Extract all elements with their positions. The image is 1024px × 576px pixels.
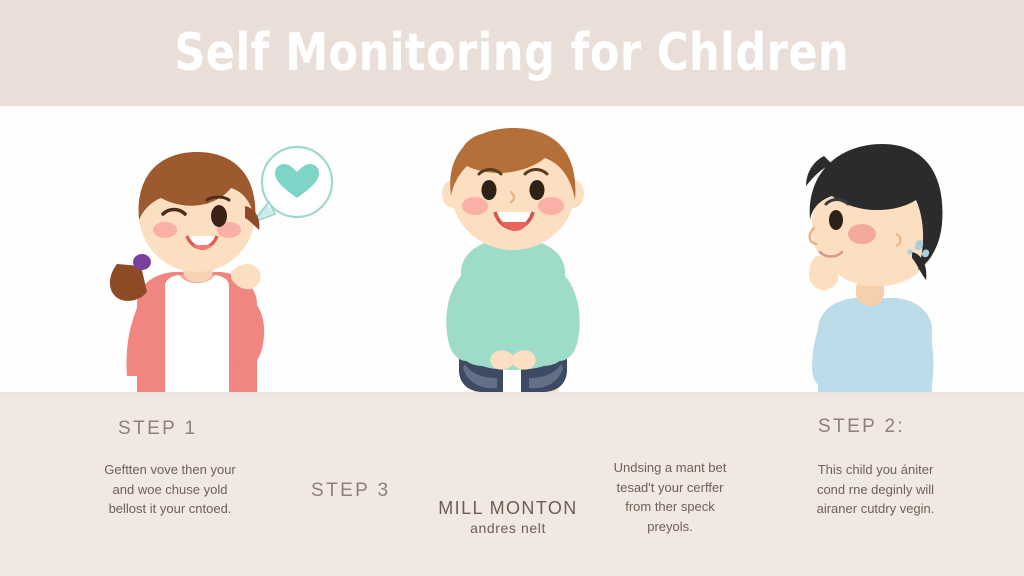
middle-body: Undsing a mant bet tesad't your cerffer … (570, 458, 770, 536)
figure-boy-listening (770, 134, 970, 392)
step-1-label: STEP 1 (118, 418, 198, 440)
figure-girl-thinking (95, 136, 365, 392)
header-band: Self Monitoring for Chldren (0, 0, 1024, 106)
step-1-body: Geftten vove then your and woe chuse yol… (50, 460, 290, 519)
caption-band: STEP 1 Geftten vove then your and woe ch… (0, 392, 1024, 576)
band-top-edge (0, 392, 1024, 395)
illustration-stage (0, 106, 1024, 392)
step-3-label: STEP 3 (311, 480, 391, 502)
step-2-label: STEP 2: (818, 416, 905, 438)
step-2-body: This child you ániter cond rne deginly w… (768, 460, 983, 519)
page-title: Self Monitoring for Chldren (175, 23, 850, 83)
poster: Self Monitoring for Chldren (0, 0, 1024, 576)
